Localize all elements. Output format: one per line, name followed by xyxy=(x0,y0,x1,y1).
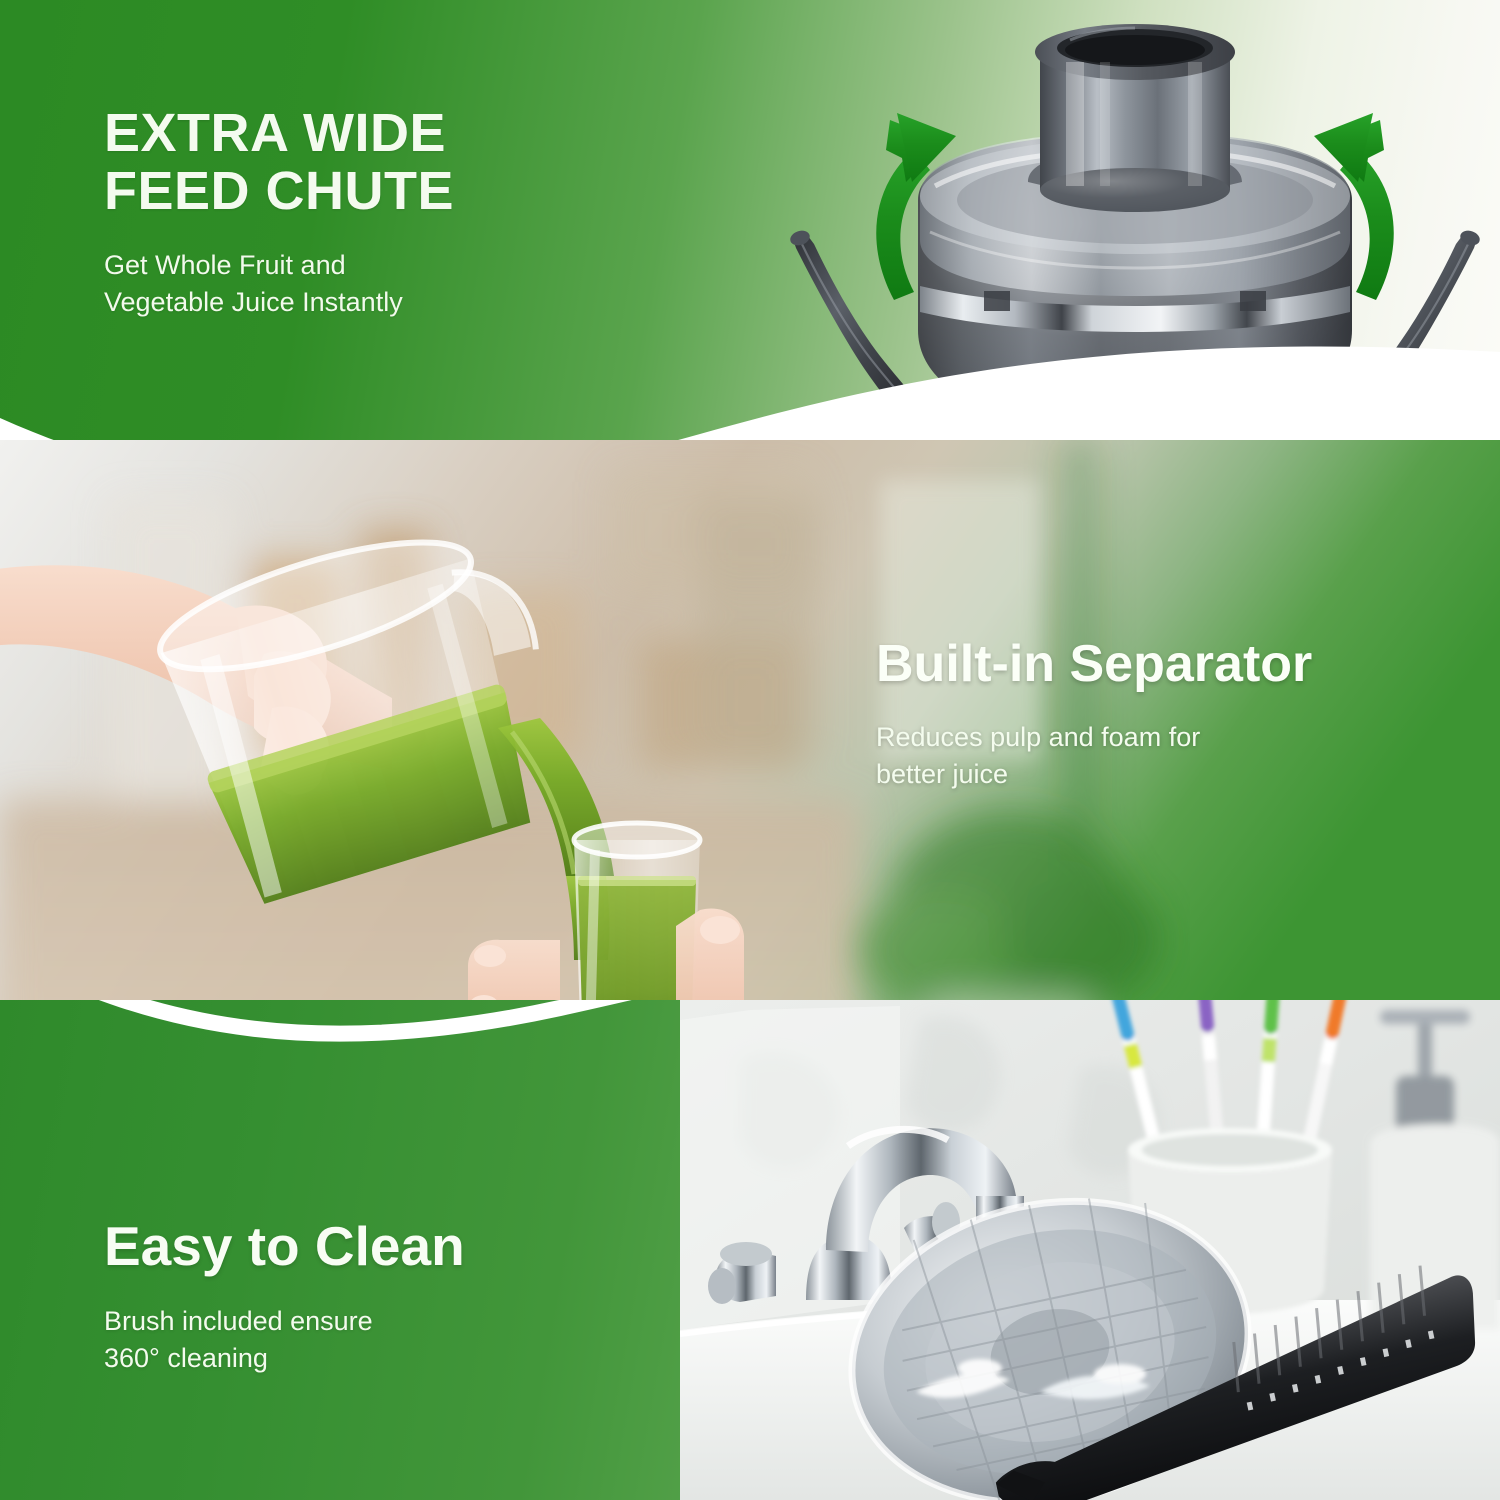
headline-built-in-separator: Built-in Separator xyxy=(876,636,1456,693)
feature-text-block-1: EXTRA WIDE FEED CHUTE Get Whole Fruit an… xyxy=(104,104,724,321)
headline-easy-to-clean: Easy to Clean xyxy=(104,1216,664,1277)
panel-built-in-separator: Built-in Separator Reduces pulp and foam… xyxy=(0,440,1500,1080)
subtext-easy-to-clean: Brush included ensure 360° cleaning xyxy=(104,1303,664,1378)
wave-divider-bottom xyxy=(0,1000,1500,1068)
headline-line-1: EXTRA WIDE xyxy=(104,103,446,163)
feature-text-block-2: Built-in Separator Reduces pulp and foam… xyxy=(876,636,1456,794)
headline-line-2: FEED CHUTE xyxy=(104,162,724,220)
headline-extra-wide-feed-chute: EXTRA WIDE FEED CHUTE xyxy=(104,104,724,221)
subtext-line-1: Get Whole Fruit and xyxy=(104,250,346,280)
subtext-line-2: better juice xyxy=(876,756,1456,793)
juicer-feed-chute xyxy=(1028,24,1242,212)
feature-text-block-3: Easy to Clean Brush included ensure 360°… xyxy=(104,1216,664,1377)
subtext-line-1: Brush included ensure xyxy=(104,1306,373,1336)
bathroom-cleaning-scene xyxy=(680,1000,1500,1500)
product-feature-poster: EXTRA WIDE FEED CHUTE Get Whole Fruit an… xyxy=(0,0,1500,1500)
subtext-line-2: 360° cleaning xyxy=(104,1340,664,1377)
subtext-extra-wide-feed-chute: Get Whole Fruit and Vegetable Juice Inst… xyxy=(104,247,724,322)
subtext-built-in-separator: Reduces pulp and foam for better juice xyxy=(876,719,1456,794)
subtext-line-2: Vegetable Juice Instantly xyxy=(104,284,724,321)
panel-easy-to-clean: Easy to Clean Brush included ensure 360°… xyxy=(0,1000,1500,1500)
subtext-line-1: Reduces pulp and foam for xyxy=(876,722,1200,752)
